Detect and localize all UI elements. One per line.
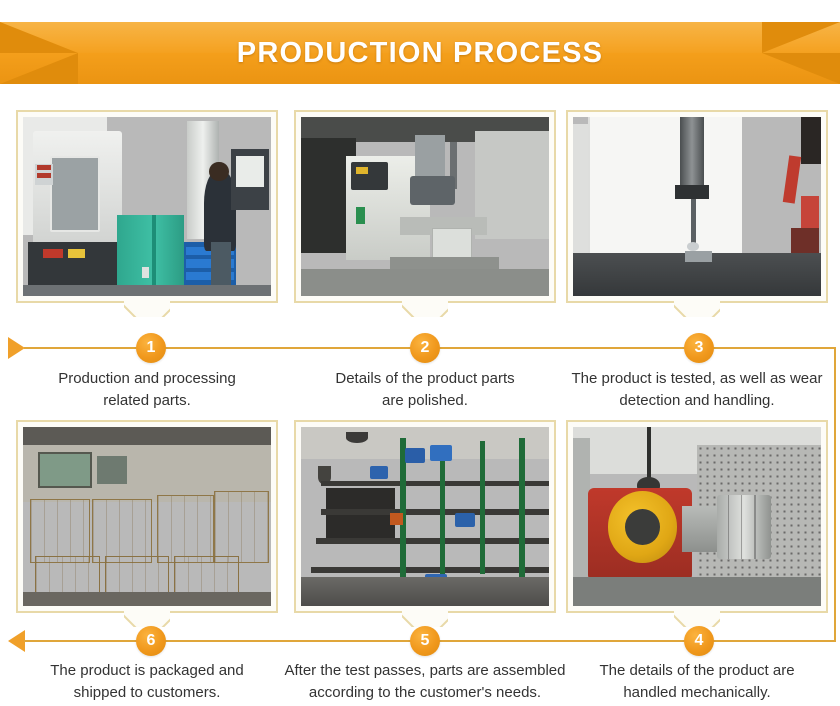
step-4-caption: The details of the product are handled m… — [566, 660, 828, 704]
step-badge-5: 5 — [410, 626, 440, 656]
step-6-caption-line2: shipped to customers. — [16, 682, 278, 704]
cmm-inspection-probe-photo — [573, 117, 821, 296]
step-5-caption-line2: according to the customer's needs. — [272, 682, 578, 704]
step-3-caption-line1: The product is tested, as well as wear — [556, 368, 838, 390]
step-5-caption-line1: After the test passes, parts are assembl… — [272, 660, 578, 682]
step-6-photo-card — [16, 420, 278, 613]
step-1-caption: Production and processing related parts. — [16, 368, 278, 412]
step-5-caption: After the test passes, parts are assembl… — [272, 660, 578, 704]
step-2-caption: Details of the product parts are polishe… — [294, 368, 556, 412]
step-5-photo-card — [294, 420, 556, 613]
card-notch — [124, 609, 170, 627]
step-1-caption-line1: Production and processing — [16, 368, 278, 390]
production-process-infographic: PRODUCTION PROCESS — [0, 0, 840, 706]
card-notch — [402, 299, 448, 317]
flow-arrow-left — [8, 630, 25, 652]
step-badge-3: 3 — [684, 333, 714, 363]
step-3-caption: The product is tested, as well as wear d… — [556, 368, 838, 412]
step-4-photo-card — [566, 420, 828, 613]
step-badge-4: 4 — [684, 626, 714, 656]
card-notch — [674, 299, 720, 317]
step-3-caption-line2: detection and handling. — [556, 390, 838, 412]
step-1-caption-line2: related parts. — [16, 390, 278, 412]
step-2-caption-line1: Details of the product parts — [294, 368, 556, 390]
step-2-caption-line2: are polished. — [294, 390, 556, 412]
step-4-caption-line2: handled mechanically. — [566, 682, 828, 704]
step-badge-2: 2 — [410, 333, 440, 363]
header-banner: PRODUCTION PROCESS — [0, 22, 840, 84]
step-3-photo-card — [566, 110, 828, 303]
card-notch — [402, 609, 448, 627]
step-6-caption-line1: The product is packaged and — [16, 660, 278, 682]
red-gearbox-lathe-photo — [573, 427, 821, 606]
cnc-machining-workshop-photo — [23, 117, 271, 296]
step-badge-6: 6 — [136, 626, 166, 656]
card-notch — [124, 299, 170, 317]
wooden-crates-packaging-photo — [23, 427, 271, 606]
page-title: PRODUCTION PROCESS — [0, 22, 840, 84]
step-2-photo-card — [294, 110, 556, 303]
step-6-caption: The product is packaged and shipped to c… — [16, 660, 278, 704]
flow-arrow-right — [8, 337, 25, 359]
step-4-caption-line1: The details of the product are — [566, 660, 828, 682]
parts-storage-shelving-photo — [301, 427, 549, 606]
step-1-photo-card — [16, 110, 278, 303]
card-notch — [674, 609, 720, 627]
step-badge-1: 1 — [136, 333, 166, 363]
grinding-polishing-machine-photo — [301, 117, 549, 296]
